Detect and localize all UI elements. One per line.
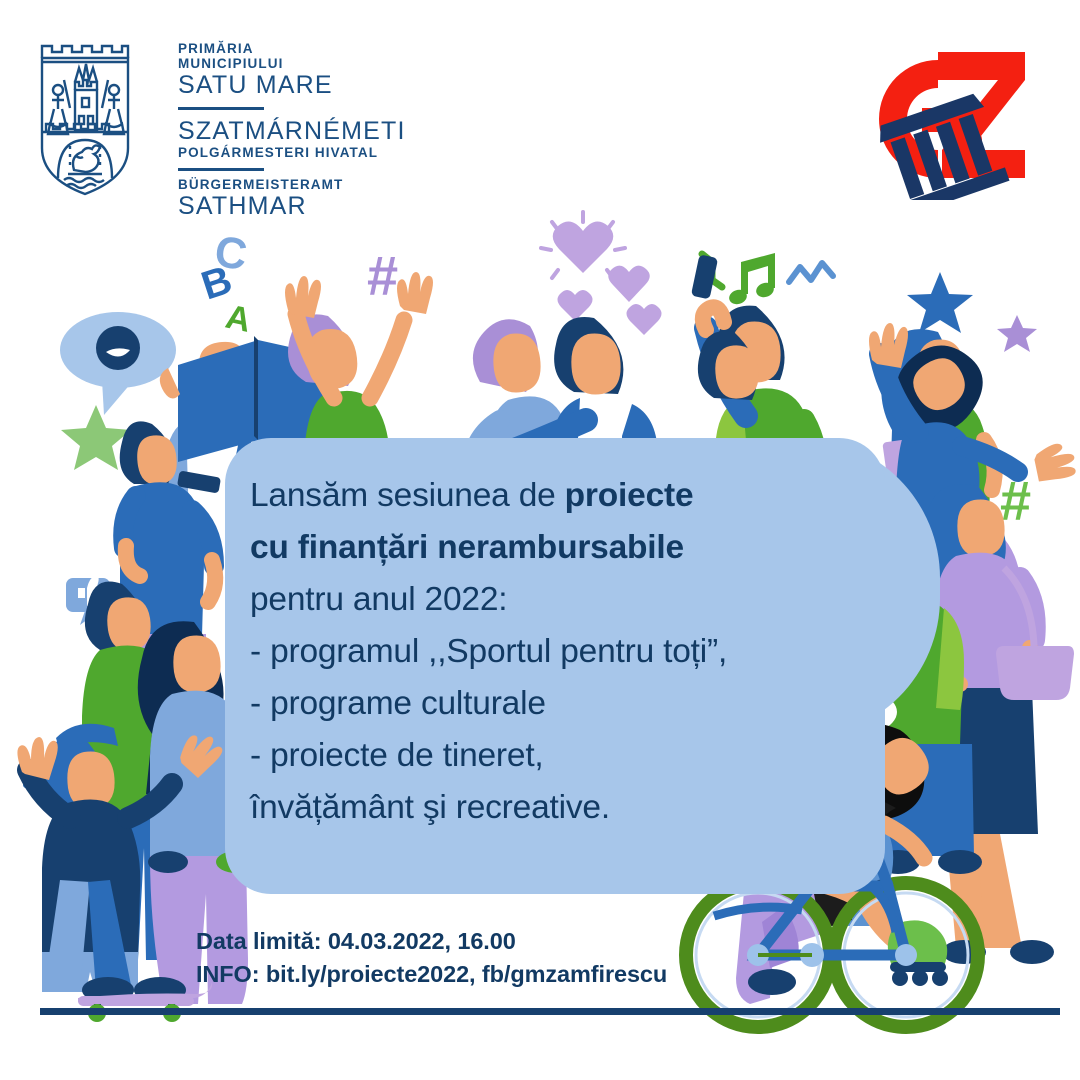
decoration-letters: B C A — [196, 227, 254, 340]
phone-icon — [691, 254, 718, 299]
speech-bubble-icon — [60, 312, 176, 415]
card-line-5: - programe culturale — [250, 678, 870, 730]
hashtag-purple-icon: # — [367, 244, 398, 307]
ground-line — [40, 1008, 1060, 1015]
star-icon — [907, 272, 973, 333]
card-line-1-bold: proiecte — [565, 477, 694, 514]
card-line-1-text: Lansăm sesiunea de — [250, 477, 565, 514]
poster-canvas: PRIMĂRIA MUNICIPIULUI SATU MARE SZATMÁRN… — [0, 0, 1080, 1080]
shoe-icon — [1010, 940, 1054, 964]
card-line-1: Lansăm sesiunea de proiecte — [250, 470, 870, 522]
card-line-2: cu finanțări nerambursabile — [250, 522, 870, 574]
shoe-icon — [748, 969, 796, 995]
card-line-2-bold: cu finanțări nerambursabile — [250, 529, 684, 566]
music-note-icon — [727, 253, 775, 306]
card-line-3: pentru anul 2022: — [250, 574, 870, 626]
hand-icon — [285, 272, 433, 318]
card-text-block: Lansăm sesiunea de proiecte cu finanțări… — [250, 470, 870, 834]
deadline-line: Data limită: 04.03.2022, 16.00 — [196, 925, 667, 958]
zigzag-icon — [789, 263, 833, 282]
svg-text:C: C — [212, 227, 250, 280]
heart-icon-group — [553, 222, 662, 335]
info-line[interactable]: INFO: bit.ly/proiecte2022, fb/gmzamfires… — [196, 958, 667, 991]
svg-text:A: A — [222, 298, 254, 340]
shoe-icon — [938, 850, 982, 874]
footer-info-block: Data limită: 04.03.2022, 16.00 INFO: bit… — [196, 925, 667, 991]
card-line-6: - proiecte de tineret, — [250, 730, 870, 782]
card-line-4: - programul ,,Sportul pentru toți”, — [250, 626, 870, 678]
card-line-7: învățământ şi recreative. — [250, 782, 870, 834]
star-small-icon — [997, 315, 1037, 352]
